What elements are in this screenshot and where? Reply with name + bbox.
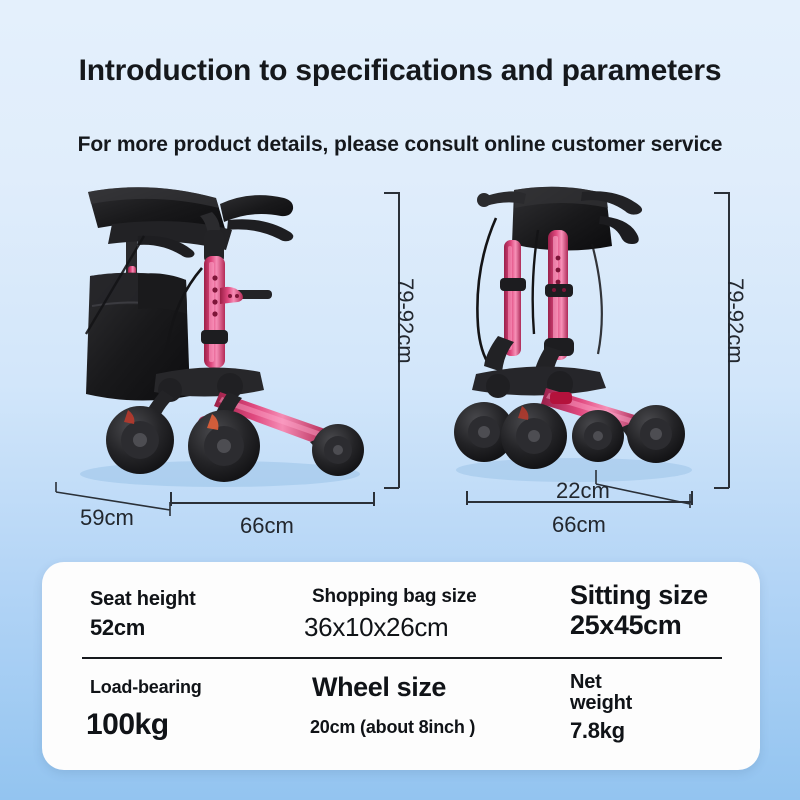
dimension-label-right-width: 66cm (552, 512, 606, 538)
dimension-line-left-width (170, 502, 374, 504)
spec-value-wheel-size: 20cm (about 8inch ) (310, 717, 475, 738)
page-subtitle: For more product details, please consult… (0, 133, 800, 157)
dimension-tick-right-width-end (691, 491, 693, 505)
spec-label-seat-height: Seat height (90, 588, 196, 611)
dimension-line-right-width (466, 501, 692, 503)
spec-value-load-bearing: 100kg (86, 708, 169, 742)
product-image-side-view (52, 178, 382, 493)
dimension-label-left-depth: 59cm (80, 505, 134, 531)
dimension-tick-left-height-top (384, 192, 399, 194)
spec-label-sitting-size: Sitting size (570, 580, 708, 611)
specification-card: Seat height 52cm Shopping bag size 36x10… (42, 562, 760, 770)
spec-value-seat-height: 52cm (90, 615, 145, 641)
dimension-tick-left-width-start (170, 492, 172, 506)
spec-value-shopping-bag-size: 36x10x26cm (304, 612, 448, 643)
spec-label-net-weight: Netweight (570, 672, 632, 714)
spec-label-wheel-size: Wheel size (312, 672, 446, 703)
spec-row-divider (82, 657, 722, 659)
spec-label-shopping-bag-size: Shopping bag size (312, 586, 476, 608)
dimension-tick-left-height-bottom (384, 487, 399, 489)
dimension-tick-left-width-end (373, 492, 375, 506)
specification-infographic: Introduction to specifications and param… (0, 0, 800, 800)
dimension-tick-right-width-start (466, 491, 468, 505)
spec-label-load-bearing: Load-bearing (90, 677, 202, 698)
product-image-folded-view (442, 178, 712, 488)
spec-label-net-weight-text: Netweight (570, 671, 632, 714)
dimension-tick-right-height-top (714, 192, 729, 194)
dimension-tick-right-height-bottom (714, 487, 729, 489)
dimension-label-left-width: 66cm (240, 513, 294, 539)
dimension-label-left-height: 79-92cm (392, 278, 418, 364)
spec-value-sitting-size: 25x45cm (570, 610, 681, 641)
page-title: Introduction to specifications and param… (0, 54, 800, 88)
spec-value-net-weight: 7.8kg (570, 718, 625, 744)
dimension-label-right-height: 79-92cm (722, 278, 748, 364)
